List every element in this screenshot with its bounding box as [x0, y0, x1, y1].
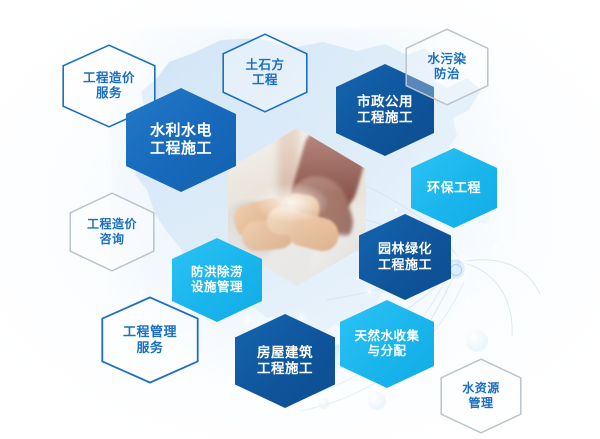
glow-dot — [246, 318, 249, 321]
hexagon-label-line: 工程造价 — [83, 71, 135, 86]
hexagon-label-line: 工程施工 — [357, 110, 413, 126]
hexagon-label-line: 服务 — [123, 340, 177, 356]
hexagon-label-line: 环保工程 — [427, 180, 481, 196]
hexagon-tianranshui-shouji[interactable]: 天然水收集 与分配 — [340, 300, 434, 388]
hexagon-fangwu-jianzhu[interactable]: 房屋建筑 工程施工 — [235, 314, 335, 408]
bubble — [466, 330, 488, 352]
hexagon-label-line: 与分配 — [367, 344, 406, 359]
hexagon-label-line: 房屋建筑 — [257, 345, 313, 361]
hexagon-label-line: 水污染 — [427, 52, 466, 67]
hexagon-label-line: 工程管理 — [123, 324, 177, 340]
hexagon-label-line: 设施管理 — [191, 280, 243, 295]
hexagon-label-line: 工程造价 — [87, 217, 137, 232]
glow-dot — [466, 300, 469, 303]
hexagon-label-line: 工程施工 — [150, 140, 212, 158]
bubble — [368, 392, 386, 410]
hexagon-yuanlin-lvhua[interactable]: 园林绿化 工程施工 — [359, 214, 451, 300]
hexagon-label-line: 工程施工 — [378, 257, 432, 273]
bubble — [318, 398, 329, 409]
hexagon-label-line: 工程 — [245, 73, 284, 88]
glow-dot — [140, 290, 143, 293]
hexagon-shuiwuran-fangzhi[interactable]: 水污染 防治 — [405, 28, 489, 106]
hexagon-tushifang-gongcheng[interactable]: 土石方 工程 — [222, 33, 308, 113]
hexagon-label-line: 工程施工 — [257, 361, 313, 377]
hexagon-label-line: 水资源 — [462, 381, 500, 396]
hexagon-label-line: 管理 — [462, 396, 500, 411]
hexagon-label-line: 防治 — [427, 67, 466, 82]
hexagon-label-line: 园林绿化 — [378, 241, 432, 257]
glow-dot — [368, 290, 371, 293]
glow-dot — [300, 316, 303, 319]
hexagon-label-line: 水利水电 — [150, 122, 212, 140]
hexagon-gongcheng-guanli-fuwu[interactable]: 工程管理 服务 — [101, 296, 199, 384]
hexagon-gongcheng-zaojia-zixun[interactable]: 工程造价 咨询 — [69, 192, 155, 272]
hexagon-label-line: 防洪除涝 — [191, 265, 243, 280]
infographic-canvas: 工程造价 服务 土石方 工程 水利水电 工程施工 市政公用 工程施工 水污染 防… — [0, 0, 600, 439]
hexagon-huanbao-gongcheng[interactable]: 环保工程 — [411, 148, 497, 228]
hexagon-label-line: 土石方 — [245, 58, 284, 73]
hexagon-label-line: 天然水收集 — [354, 329, 419, 344]
hexagon-label-line: 服务 — [83, 86, 135, 101]
hexagon-label-line: 咨询 — [87, 232, 137, 247]
hexagon-shuiziyuan-guanli[interactable]: 水资源 管理 — [440, 358, 522, 434]
